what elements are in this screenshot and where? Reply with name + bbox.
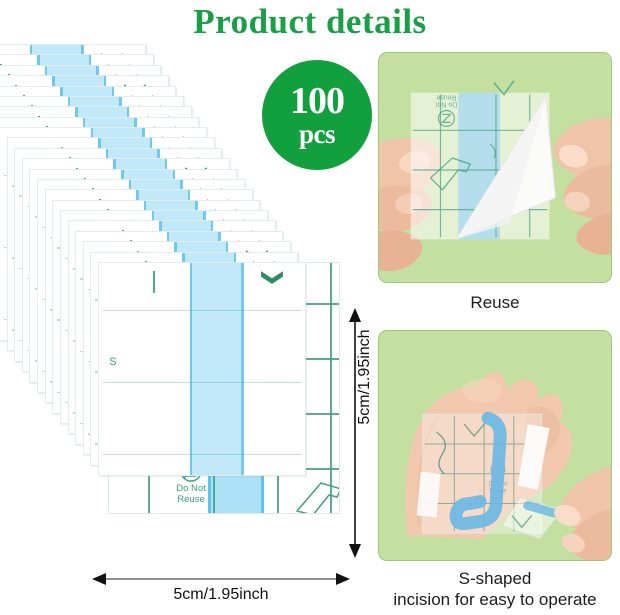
- do-not-reuse-line1: Do Not: [176, 483, 206, 494]
- s-incision-mark: S: [109, 356, 116, 368]
- grid-line-h: [103, 310, 301, 312]
- photo-panel-s-shaped: Do Not Reuse: [378, 330, 612, 561]
- stack-sheet: ❯S: [98, 262, 306, 476]
- caption-s-shaped-line2: incision for easy to operate: [393, 590, 596, 609]
- width-dimension-arrow: [92, 572, 350, 586]
- blue-stripe-edge: [241, 262, 244, 476]
- svg-text:Reuse: Reuse: [436, 94, 456, 101]
- photo-panel-reuse: Do Not Reuse: [378, 52, 612, 283]
- pinching-fingers: [551, 466, 611, 560]
- page-title: Product details: [0, 2, 620, 42]
- grid-line-v: [330, 263, 332, 513]
- caption-s-shaped-line1: S-shaped: [459, 569, 532, 588]
- do-not-reuse-line2: Reuse: [177, 494, 204, 505]
- caption-s-shaped: S-shaped incision for easy to operate: [368, 568, 620, 610]
- hand-with-dressing-illustration: Do Not Reuse: [379, 331, 611, 560]
- badge-count: 100: [262, 60, 372, 120]
- height-dimension-label: 5cm/1.95inch: [356, 312, 374, 442]
- grid-line-h: [103, 454, 301, 456]
- blue-stripe-edge: [190, 262, 193, 476]
- hands-peeling-film-illustration: Do Not Reuse: [379, 53, 611, 282]
- edge-tick: [153, 271, 155, 293]
- peel-corner-icon: [295, 477, 340, 514]
- right-hand: [554, 118, 611, 255]
- applied-dressing: Do Not Reuse: [417, 414, 564, 539]
- blue-stripe: [190, 262, 244, 476]
- caption-reuse: Reuse: [378, 292, 612, 313]
- svg-text:Do Not: Do Not: [436, 101, 458, 108]
- chevron-icon: ❯: [262, 269, 283, 287]
- width-dimension-label: 5cm/1.95inch: [92, 586, 350, 604]
- quantity-badge: 100 pcs: [262, 60, 372, 170]
- badge-unit: pcs: [262, 120, 372, 148]
- grid-line-h: [103, 382, 301, 384]
